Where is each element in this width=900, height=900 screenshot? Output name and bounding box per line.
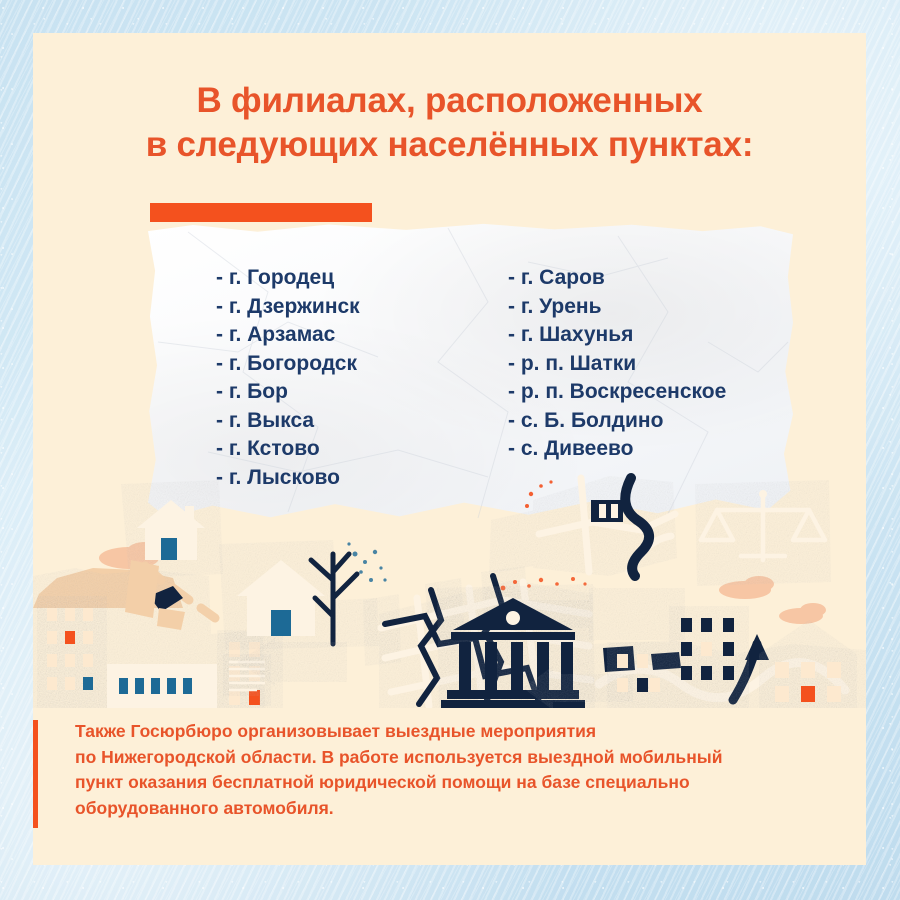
list-item: - р. п. Шатки bbox=[508, 350, 726, 379]
list-item: - г. Арзамас bbox=[216, 321, 360, 350]
blue-map-edge bbox=[489, 510, 535, 574]
list-item: - с. Б. Болдино bbox=[508, 407, 726, 436]
city-list-right: - г. Саров - г. Урень - г. Шахунья - р. … bbox=[508, 264, 726, 464]
illustration-band bbox=[33, 448, 866, 708]
footnote-line-2: по Нижегородской области. В работе испол… bbox=[75, 745, 835, 771]
list-item: - г. Урень bbox=[508, 293, 726, 322]
orange-accent-bar bbox=[150, 203, 372, 222]
page-title: В филиалах, расположенных в следующих на… bbox=[33, 79, 866, 167]
list-item: - г. Выкса bbox=[216, 407, 360, 436]
list-item: - г. Шахунья bbox=[508, 321, 726, 350]
city-map-illustration bbox=[33, 448, 866, 708]
list-item: - г. Дзержинск bbox=[216, 293, 360, 322]
list-item: - р. п. Воскресенское bbox=[508, 378, 726, 407]
map-dark-shape bbox=[591, 500, 623, 522]
footnote-line-1: Также Госюрбюро организовывает выездные … bbox=[75, 719, 835, 745]
cream-card: В филиалах, расположенных в следующих на… bbox=[33, 33, 866, 865]
apartment-building-icon bbox=[607, 642, 669, 708]
footnote-line-4: оборудованного автомобиля. bbox=[75, 796, 835, 822]
list-item: - г. Богородск bbox=[216, 350, 360, 379]
infographic-poster: В филиалах, расположенных в следующих на… bbox=[0, 0, 900, 900]
orange-vertical-rule bbox=[33, 720, 38, 828]
list-item: - г. Саров bbox=[508, 264, 726, 293]
list-item: - г. Городец bbox=[216, 264, 360, 293]
footnote-line-3: пункт оказания бесплатной юридической по… bbox=[75, 770, 835, 796]
footnote-text: Также Госюрбюро организовывает выездные … bbox=[75, 719, 835, 821]
page-title-line-2: в следующих населённых пунктах: bbox=[33, 123, 866, 167]
page-title-line-1: В филиалах, расположенных bbox=[196, 81, 702, 120]
list-item: - г. Бор bbox=[216, 378, 360, 407]
